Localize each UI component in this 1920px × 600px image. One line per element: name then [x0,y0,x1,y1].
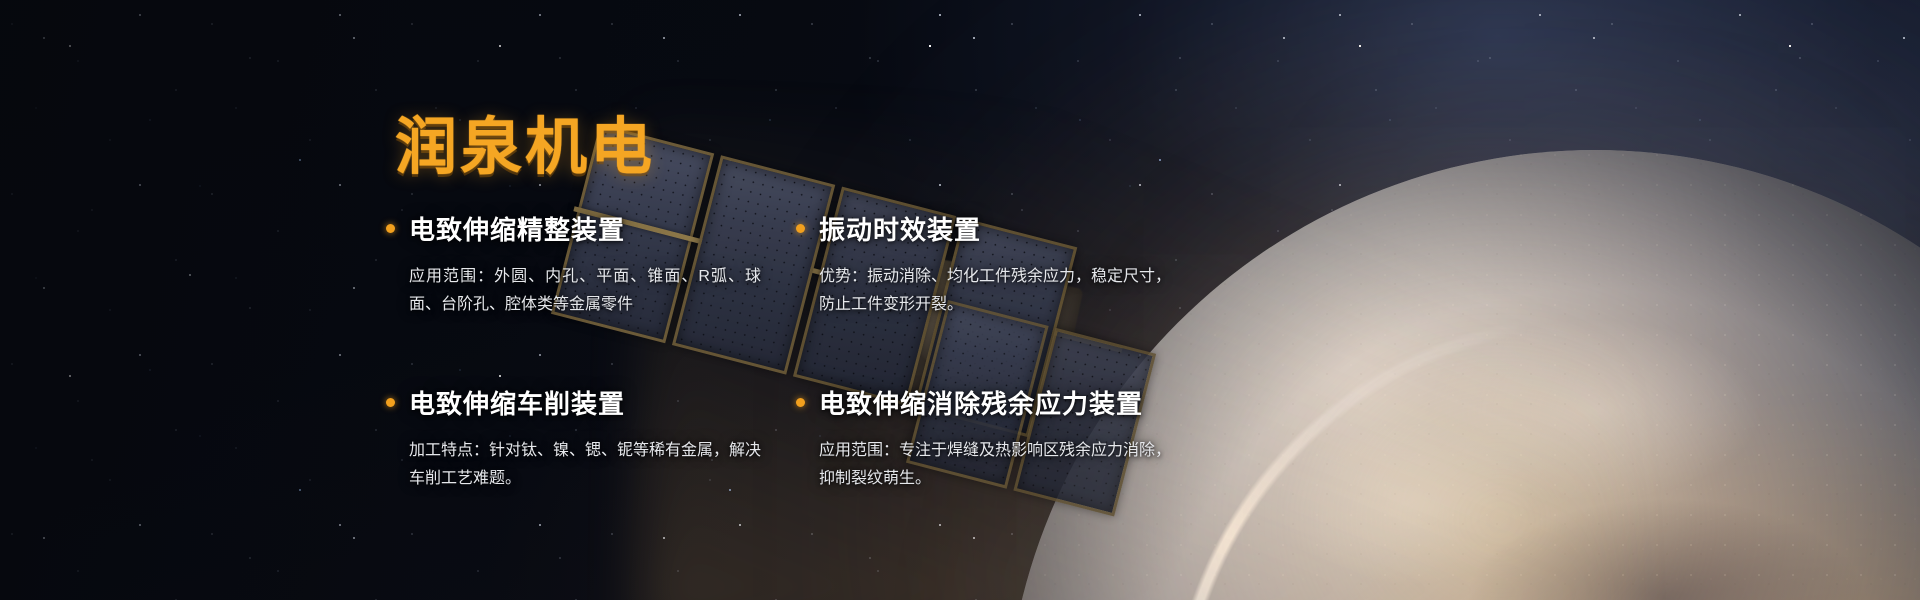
feature-body: 优势：振动消除、均化工件残余应力，稳定尺寸，防止工件变形开裂。 [819,263,1171,318]
feature-title: 电致伸缩车削装置 [409,384,625,421]
bullet-dot-icon [386,224,395,233]
feature-body: 应用范围：外圆、内孔、平面、锥面、R弧、球面、台阶孔、腔体类等金属零件 [409,263,761,318]
hero-banner: 润泉机电 电致伸缩精整装置 应用范围：外圆、内孔、平面、锥面、R弧、球面、台阶孔… [0,0,1920,600]
feature-item-residual-stress-relief[interactable]: 电致伸缩消除残余应力装置 应用范围：专注于焊缝及热影响区残余应力消除，抑制裂纹萌… [796,384,1206,492]
feature-item-electrostrictive-turning[interactable]: 电致伸缩车削装置 加工特点：针对钛、镍、锶、铌等稀有金属，解决车削工艺难题。 [386,384,796,492]
feature-title: 电致伸缩消除残余应力装置 [819,384,1143,421]
feature-title: 电致伸缩精整装置 [409,210,625,247]
feature-body: 加工特点：针对钛、镍、锶、铌等稀有金属，解决车削工艺难题。 [409,437,761,492]
bullet-dot-icon [796,398,805,407]
feature-body: 应用范围：专注于焊缝及热影响区残余应力消除，抑制裂纹萌生。 [819,437,1171,492]
bullet-dot-icon [796,224,805,233]
feature-item-vibration-aging[interactable]: 振动时效装置 优势：振动消除、均化工件残余应力，稳定尺寸，防止工件变形开裂。 [796,210,1206,318]
feature-heading: 电致伸缩消除残余应力装置 [796,384,1206,421]
feature-title: 振动时效装置 [819,210,981,247]
banner-content: 润泉机电 电致伸缩精整装置 应用范围：外圆、内孔、平面、锥面、R弧、球面、台阶孔… [0,0,1920,600]
feature-heading: 电致伸缩车削装置 [386,384,796,421]
feature-heading: 振动时效装置 [796,210,1206,247]
feature-heading: 电致伸缩精整装置 [386,210,796,247]
feature-grid: 电致伸缩精整装置 应用范围：外圆、内孔、平面、锥面、R弧、球面、台阶孔、腔体类等… [386,210,1206,492]
feature-item-electrostrictive-finishing[interactable]: 电致伸缩精整装置 应用范围：外圆、内孔、平面、锥面、R弧、球面、台阶孔、腔体类等… [386,210,796,318]
brand-title: 润泉机电 [395,96,655,186]
bullet-dot-icon [386,398,395,407]
